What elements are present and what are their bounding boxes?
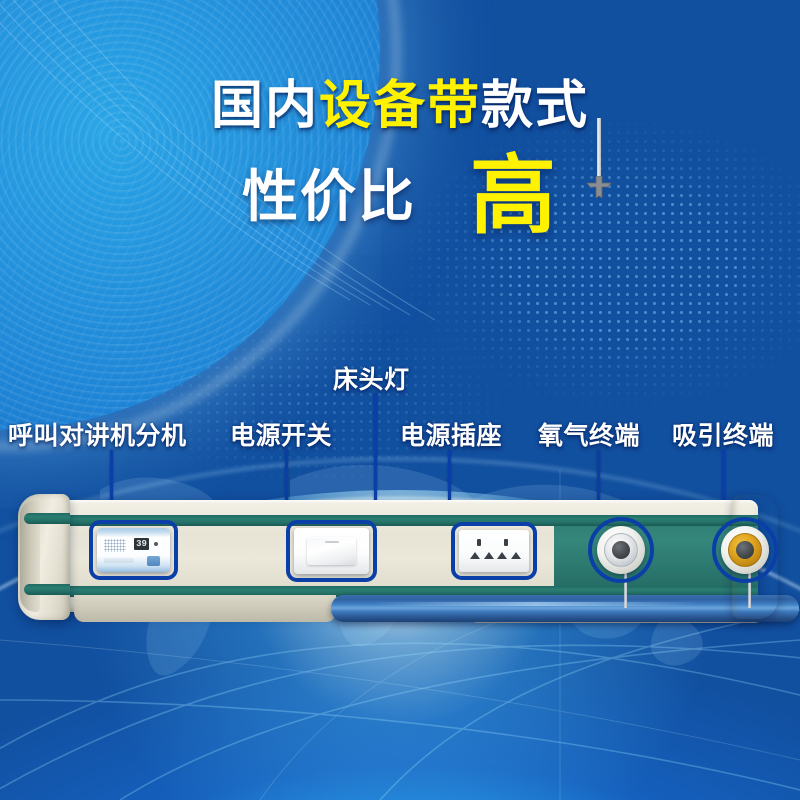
highlight-box-power-socket: [451, 522, 537, 580]
rail-highlight: [371, 602, 701, 606]
headline-block: 国内设备带款式 性价比 高: [0, 78, 800, 238]
cap-left-stripe-top: [24, 513, 70, 524]
headline-line-1: 国内设备带款式: [0, 78, 800, 134]
callout-label-power-socket: 电源插座: [400, 416, 502, 452]
callout-label-power-switch: 电源开关: [230, 416, 332, 452]
pull-cord-weight-icon[interactable]: [585, 176, 613, 198]
callout-label-suction-terminal: 吸引终端: [672, 416, 774, 452]
callout-label-oxygen-terminal: 氧气终端: [538, 416, 640, 452]
unit-end-cap-left: [18, 494, 70, 620]
headline-line-2: 性价比 高: [0, 156, 800, 238]
product-banner: 国内设备带款式 性价比 高 呼叫对讲机分机 电源开关 床头灯 电源插座 氧气终端…: [0, 0, 800, 800]
headline-gao: 高: [470, 156, 558, 238]
headline-part-guonei: 国内: [211, 77, 319, 135]
headline-part-shebeidai: 设备带: [319, 77, 481, 135]
unit-body: 39: [46, 500, 758, 612]
unit-lower-shell-left: [74, 595, 336, 622]
callout-label-intercom: 呼叫对讲机分机: [8, 416, 187, 452]
cap-left-stripe-bottom: [24, 584, 70, 595]
callout-label-bed-lamp: 床头灯: [333, 360, 410, 396]
pull-cord[interactable]: [597, 118, 601, 180]
highlight-box-intercom: [89, 520, 178, 580]
highlight-circle-oxygen: [588, 517, 654, 583]
headline-xingjiabi: 性价比: [242, 168, 416, 227]
highlight-circle-suction: [712, 517, 778, 583]
bed-head-unit: 39: [18, 498, 782, 630]
highlight-box-power-switch: [286, 520, 377, 582]
headline-part-kuanshi: 款式: [481, 77, 589, 135]
unit-blue-rail: [331, 595, 799, 622]
